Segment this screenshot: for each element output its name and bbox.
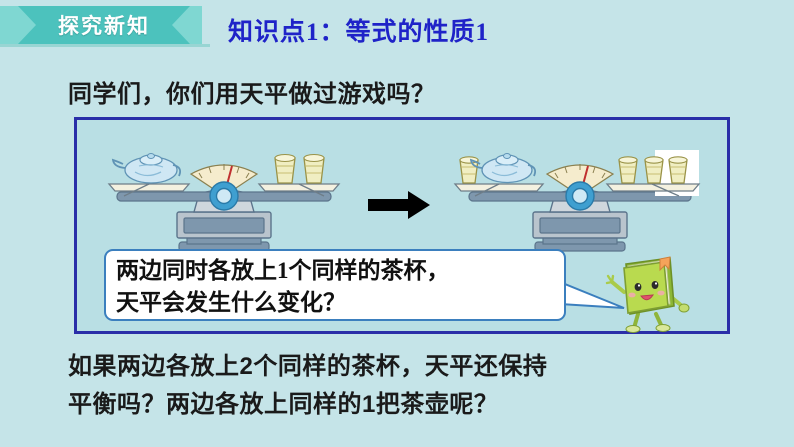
book-character-mascot xyxy=(604,248,692,334)
banner-label: 探究新知 xyxy=(0,6,202,44)
section-banner: 探究新知 xyxy=(0,6,202,44)
mascot-eye-left xyxy=(635,283,642,291)
intro-question-text: 同学们，你们用天平做过游戏吗？ xyxy=(68,74,436,109)
speech-bubble: 两边同时各放上1个同样的茶杯， 天平会发生什么变化？ xyxy=(104,249,566,321)
teapot-icon xyxy=(471,154,535,183)
teacup-icon xyxy=(304,155,324,184)
speech-bubble-text: 两边同时各放上1个同样的茶杯， 天平会发生什么变化？ xyxy=(116,255,566,319)
banner-underline xyxy=(0,44,210,47)
teacup-icon xyxy=(275,155,295,184)
teacup-icon xyxy=(619,157,637,183)
balance-scale-after xyxy=(447,134,712,254)
teacup-icon-highlighted xyxy=(669,157,687,183)
scale-right-pan xyxy=(259,155,339,197)
scale-left-pan xyxy=(455,154,543,197)
right-arrow-icon xyxy=(364,188,434,222)
bottom-question-text: 如果两边各放上2个同样的茶杯，天平还保持 平衡吗？两边各放上同样的1把茶壶呢？ xyxy=(68,348,768,424)
scale-left-pan xyxy=(109,154,189,197)
teapot-icon xyxy=(113,154,180,184)
balance-scale-before xyxy=(99,134,349,254)
teacup-icon xyxy=(645,157,663,183)
mascot-eye-right xyxy=(652,281,659,289)
scale-right-pan xyxy=(607,150,699,196)
page-title: 知识点1：等式的性质1 xyxy=(228,12,489,48)
